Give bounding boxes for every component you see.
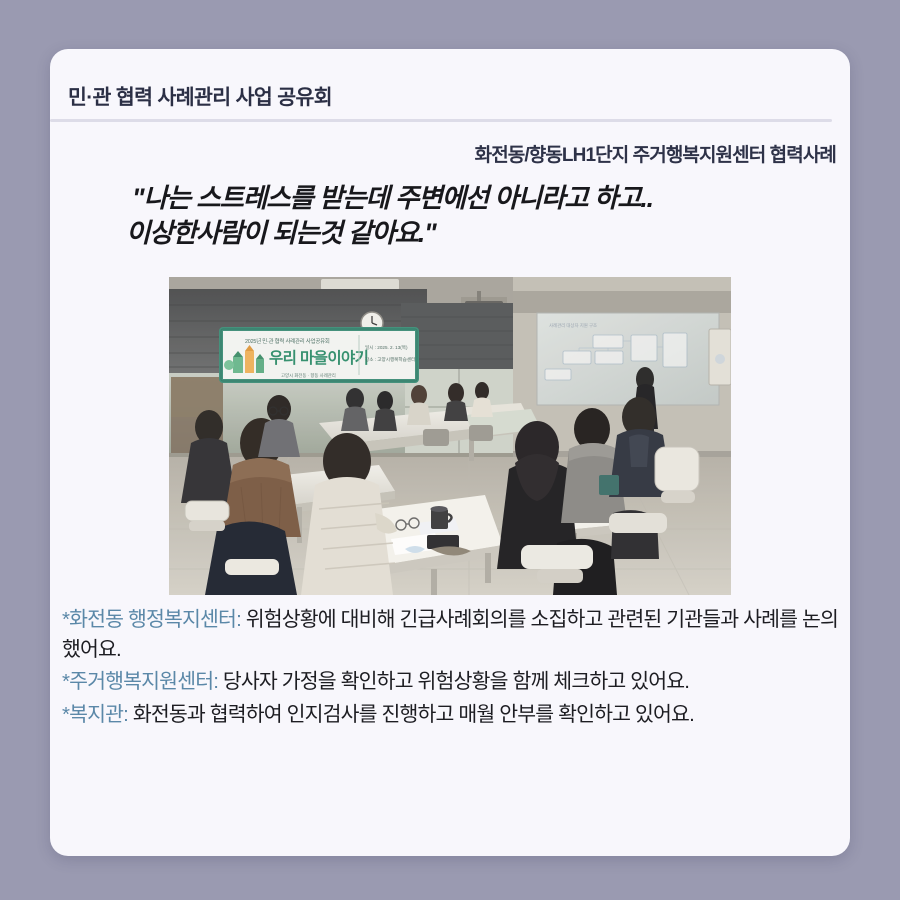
list-item: *복지관: 화전동과 협력하여 인지검사를 진행하고 매월 안부를 확인하고 있… (62, 700, 850, 730)
content-card: 민·관 협력 사례관리 사업 공유회 화전동/향동LH1단지 주거행복지원센터 … (50, 49, 850, 856)
quote-line-2: 이상한사람이 되는것 같아요." (126, 216, 838, 251)
meeting-photo: 2025년 민·관 협력 사례관리 사업공유회 우리 마을이야기 고양시 화전동… (169, 277, 731, 595)
list-item-org-2: *복지관: (62, 703, 128, 726)
quote-block: "나는 스트레스를 받는데 주변에선 아니라고 하고.. 이상한사람이 되는것 … (132, 181, 838, 250)
list-item-text-1: 당사자 가정을 확인하고 위험상황을 함께 체크하고 있어요. (218, 670, 689, 693)
title-divider (50, 119, 832, 122)
page-title: 민·관 협력 사례관리 사업 공유회 (68, 80, 332, 110)
list-item-org-1: *주거행복지원센터: (62, 670, 218, 693)
quote-line-1: "나는 스트레스를 받는데 주변에선 아니라고 하고.. (132, 181, 838, 216)
list-item-org-0: *화전동 행정복지센터: (62, 608, 241, 631)
subtitle-case-label: 화전동/향동LH1단지 주거행복지원센터 협력사례 (475, 140, 836, 167)
list-item-text-2: 화전동과 협력하여 인지검사를 진행하고 매월 안부를 확인하고 있어요. (128, 703, 694, 726)
page-root: 민·관 협력 사례관리 사업 공유회 화전동/향동LH1단지 주거행복지원센터 … (0, 0, 900, 900)
collaboration-notes-list: *화전동 행정복지센터: 위험상황에 대비해 긴급사례회의를 소집하고 관련된 … (62, 605, 850, 732)
list-item: *화전동 행정복지센터: 위험상황에 대비해 긴급사례회의를 소집하고 관련된 … (62, 605, 850, 664)
list-item: *주거행복지원센터: 당사자 가정을 확인하고 위험상황을 함께 체크하고 있어… (62, 667, 850, 697)
meeting-photo-illustration: 2025년 민·관 협력 사례관리 사업공유회 우리 마을이야기 고양시 화전동… (169, 277, 731, 595)
